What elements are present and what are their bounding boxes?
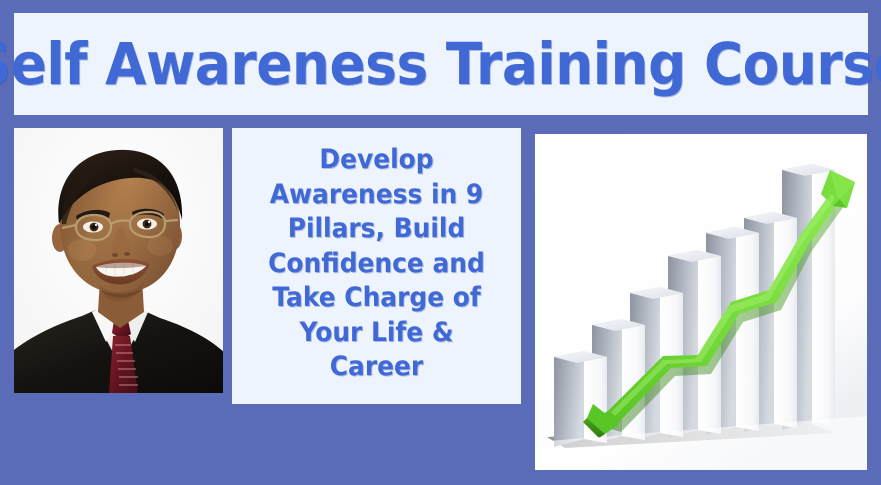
instructor-photo [14,128,223,393]
course-message: Develop Awareness in 9 Pillars, Build Co… [250,143,503,384]
course-message-panel: Develop Awareness in 9 Pillars, Build Co… [232,128,521,404]
message-line: Awareness in 9 [250,178,503,212]
page-title: Self Awareness Training Course [0,35,881,93]
message-line: Confidence and [250,247,503,281]
message-line: Develop [250,143,503,177]
growth-bar-chart [535,134,867,470]
instructor-photo-panel [14,128,223,393]
message-line: Your Life & Career [250,316,503,385]
message-line: Take Charge of [250,281,503,315]
growth-chart-panel [535,134,867,470]
title-banner: Self Awareness Training Course [14,13,868,115]
poster-root: Self Awareness Training Course [0,0,881,485]
message-line: Pillars, Build [250,212,503,246]
